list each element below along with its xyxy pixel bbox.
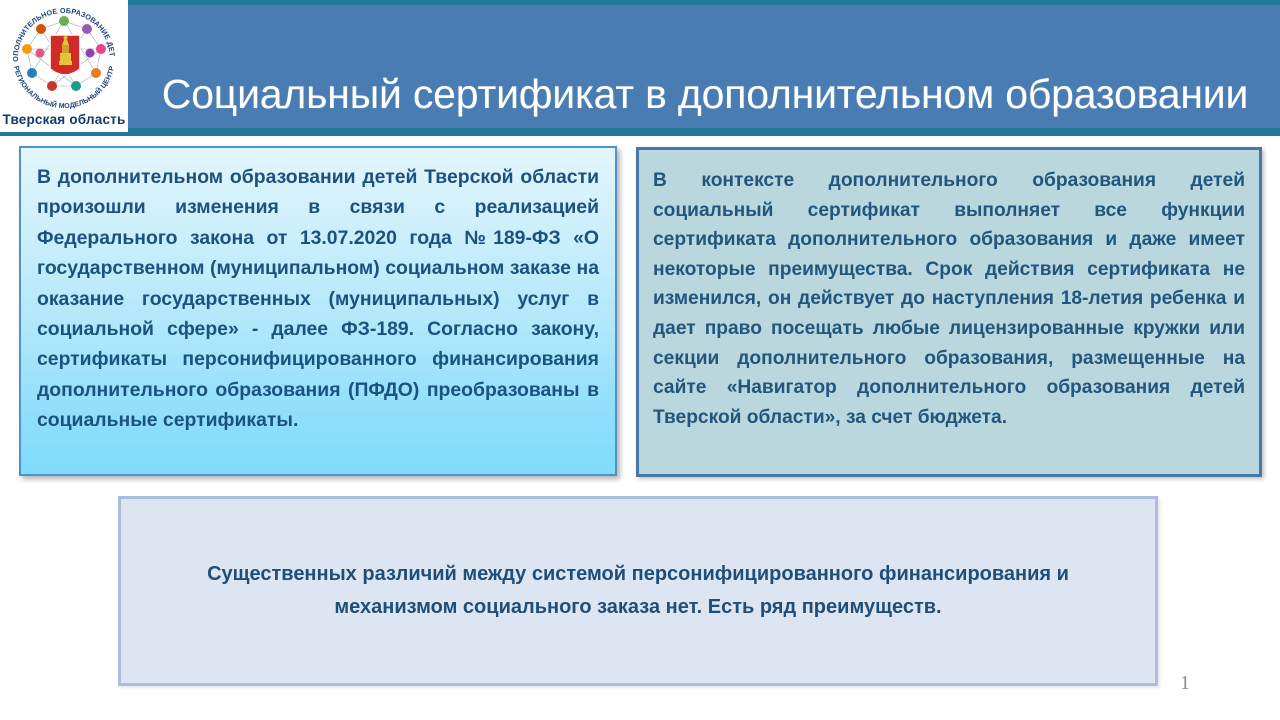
page-number: 1 (1180, 672, 1220, 695)
left-info-text: В дополнительном образовании детей Тверс… (37, 162, 599, 436)
bottom-summary-text: Существенных различий между системой пер… (177, 558, 1099, 624)
right-info-box: В контексте дополнительного образования … (636, 147, 1262, 477)
organization-logo: ДОПОЛНИТЕЛЬНОЕ ОБРАЗОВАНИЕ ДЕТЕЙ РЕГИОНА… (0, 0, 128, 132)
bottom-summary-box: Существенных различий между системой пер… (118, 496, 1158, 686)
logo-region-label: Тверская область (0, 108, 128, 132)
right-info-text: В контексте дополнительного образования … (653, 166, 1245, 432)
slide-header: ДОПОЛНИТЕЛЬНОЕ ОБРАЗОВАНИЕ ДЕТЕЙ РЕГИОНА… (0, 0, 1280, 136)
header-top-rule (0, 0, 1280, 5)
logo-emblem-icon: ДОПОЛНИТЕЛЬНОЕ ОБРАЗОВАНИЕ ДЕТЕЙ РЕГИОНА… (4, 1, 124, 109)
slide-root: ДОПОЛНИТЕЛЬНОЕ ОБРАЗОВАНИЕ ДЕТЕЙ РЕГИОНА… (0, 0, 1280, 720)
page-title: Социальный сертификат в дополнительном о… (150, 35, 1260, 153)
left-info-box: В дополнительном образовании детей Тверс… (19, 146, 617, 476)
